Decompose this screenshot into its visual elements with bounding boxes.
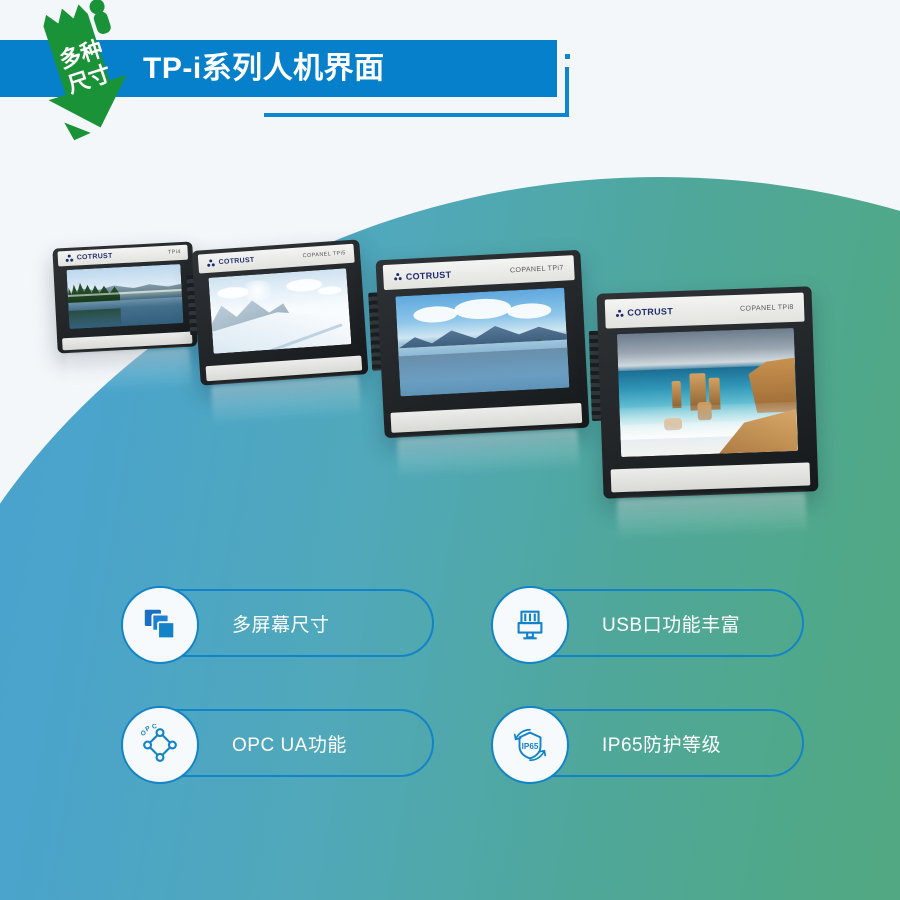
hmi-device-4: COTRUST COPANEL TPi8 — [596, 286, 818, 498]
device-3-screen — [396, 288, 569, 396]
hmi-device-1: COTRUST TPi4 — [52, 241, 197, 353]
device-4-model: COPANEL TPi8 — [740, 304, 794, 313]
device-2-model: COPANEL TPi5 — [302, 251, 346, 260]
device-1-topbar: COTRUST TPi4 — [57, 245, 188, 266]
header-bracket-vertical — [565, 67, 569, 117]
down-arrow-ribbon-icon: 多种 尺寸 — [1, 0, 165, 149]
feature-list: 多屏幕尺寸 USB口功能丰富 — [0, 575, 900, 805]
product-banner: TP-i系列人机界面 多种 尺寸 — [0, 0, 900, 900]
device-3-topbar: COTRUST COPANEL TPi7 — [383, 255, 575, 290]
device-1-screen — [66, 264, 184, 329]
device-2-screen — [209, 269, 352, 354]
cotrust-logo-icon — [394, 272, 403, 281]
device-3-bottombar — [391, 403, 582, 433]
device-2-brand: COTRUST — [218, 257, 254, 266]
multi-screen-icon — [121, 586, 199, 664]
device-4-screen — [617, 328, 797, 457]
device-1-brand: COTRUST — [77, 253, 113, 262]
svg-text:IP65: IP65 — [522, 742, 539, 751]
device-4-brand: COTRUST — [627, 307, 673, 319]
cotrust-logo-icon — [65, 254, 74, 263]
device-3-brand: COTRUST — [406, 269, 452, 281]
cotrust-logo-icon — [206, 258, 216, 268]
device-4-topbar: COTRUST COPANEL TPi8 — [604, 293, 805, 329]
hmi-device-3: COTRUST COPANEL TPi7 — [375, 250, 589, 438]
feature-pill-multi-screen[interactable]: 多屏幕尺寸 — [122, 589, 434, 657]
feature-pill-ip65[interactable]: IP65 IP65防护等级 — [492, 709, 804, 777]
header-bracket-dot — [565, 54, 570, 59]
cotrust-logo-icon — [615, 309, 624, 318]
header: TP-i系列人机界面 多种 尺寸 — [0, 0, 900, 145]
device-3-model: COPANEL TPi7 — [510, 265, 564, 275]
header-bracket-horizontal — [264, 113, 569, 117]
device-1-bottombar — [62, 332, 193, 350]
device-lineup: COTRUST TPi4 — [0, 150, 900, 570]
feature-label-usb: USB口功能丰富 — [602, 610, 740, 637]
feature-label-ip65: IP65防护等级 — [602, 730, 721, 757]
feature-pill-usb[interactable]: USB口功能丰富 — [492, 589, 804, 657]
opc-ua-network-icon: O P C — [121, 706, 199, 784]
feature-label-opc-ua: OPC UA功能 — [232, 730, 347, 757]
usb-port-icon — [491, 586, 569, 664]
device-4-bottombar — [610, 463, 811, 493]
device-1-model: TPi4 — [168, 250, 181, 257]
page-title: TP-i系列人机界面 — [143, 50, 385, 88]
svg-text:C: C — [151, 724, 157, 731]
feature-label-multi-screen: 多屏幕尺寸 — [232, 610, 330, 637]
hmi-device-2: COTRUST COPANEL TPi5 — [191, 239, 368, 385]
ip65-shield-icon: IP65 — [491, 706, 569, 784]
feature-pill-opc-ua[interactable]: O P C OPC UA功能 — [122, 709, 434, 777]
